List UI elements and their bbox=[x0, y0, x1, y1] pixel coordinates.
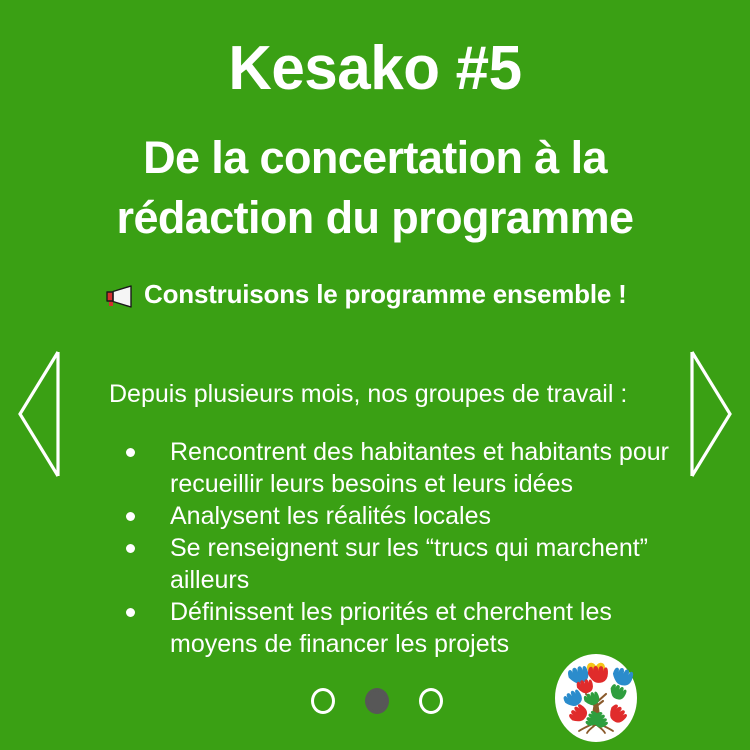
intro-text: Depuis plusieurs mois, nos groupes de tr… bbox=[109, 378, 709, 410]
pagination-dot-3[interactable] bbox=[419, 688, 443, 714]
list-item: Rencontrent des habitantes et habitants … bbox=[118, 436, 678, 500]
page-subtitle: De la concertation à la rédaction du pro… bbox=[55, 128, 695, 248]
pagination-dot-2[interactable] bbox=[365, 688, 389, 714]
list-item-label: Analysent les réalités locales bbox=[170, 502, 491, 530]
bullet-dot-icon bbox=[126, 608, 135, 617]
chevron-left-icon bbox=[16, 467, 62, 484]
bullet-dot-icon bbox=[126, 512, 135, 521]
list-item-label: Se renseignent sur les “trucs qui marche… bbox=[170, 534, 648, 594]
callout-line: Construisons le programme ensemble ! bbox=[105, 277, 665, 311]
tree-of-hands-logo bbox=[554, 653, 638, 743]
next-slide-button[interactable] bbox=[688, 348, 734, 480]
list-item-label: Définissent les priorités et cherchent l… bbox=[170, 598, 612, 658]
bullet-dot-icon bbox=[126, 544, 135, 553]
chevron-right-icon bbox=[688, 467, 734, 484]
prev-slide-button[interactable] bbox=[16, 348, 62, 480]
bullet-list: Rencontrent des habitantes et habitants … bbox=[118, 436, 678, 660]
list-item-label: Rencontrent des habitantes et habitants … bbox=[170, 438, 669, 498]
megaphone-icon bbox=[105, 282, 135, 306]
page-title: Kesako #5 bbox=[11, 32, 739, 106]
slide-canvas: Kesako #5 De la concertation à la rédact… bbox=[0, 0, 750, 750]
list-item: Se renseignent sur les “trucs qui marche… bbox=[118, 532, 678, 596]
callout-text: Construisons le programme ensemble ! bbox=[144, 279, 627, 309]
bullet-dot-icon bbox=[126, 448, 135, 457]
list-item: Analysent les réalités locales bbox=[118, 500, 678, 532]
list-item: Définissent les priorités et cherchent l… bbox=[118, 596, 678, 660]
pagination-dot-1[interactable] bbox=[311, 688, 335, 714]
